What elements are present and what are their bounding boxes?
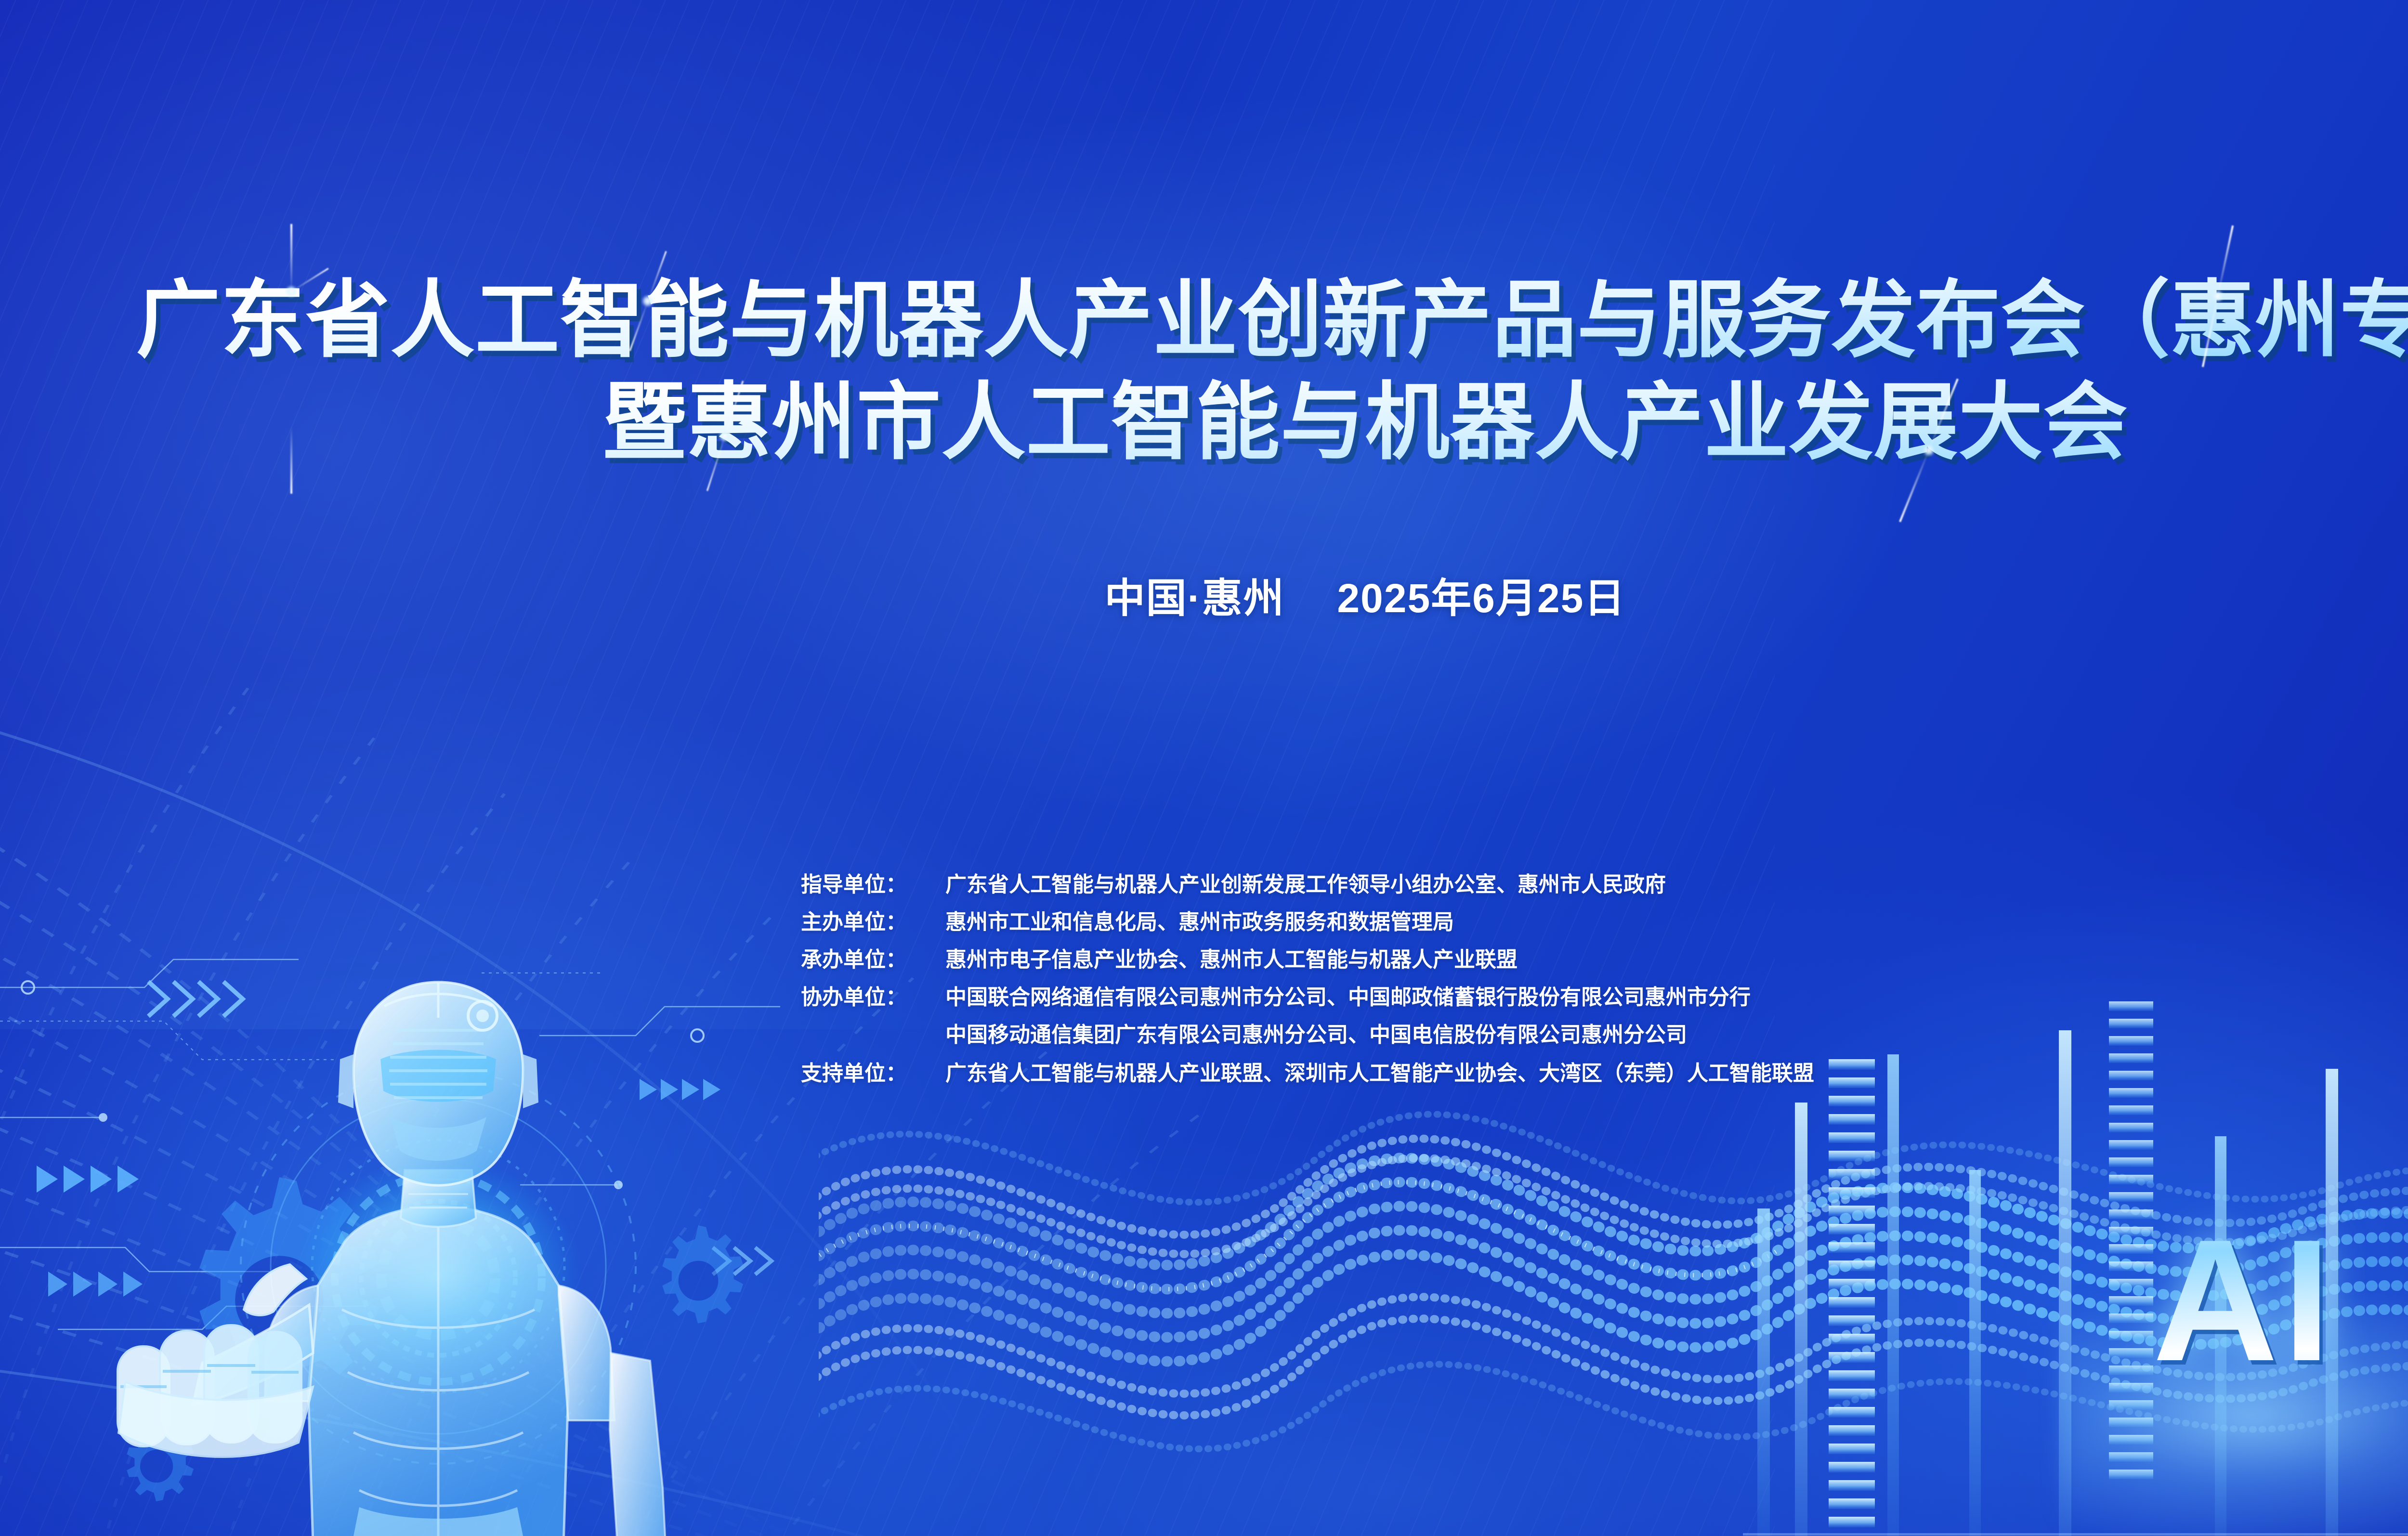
credit-value: 广东省人工智能与机器人产业联盟、深圳市人工智能产业协会、大湾区（东莞）人工智能联… — [945, 1056, 1814, 1087]
humanoid-robot-icon — [72, 862, 795, 1536]
organizer-credits: 指导单位：广东省人工智能与机器人产业创新发展工作领导小组办公室、惠州市人民政府主… — [801, 867, 2408, 1093]
credit-row: 支持单位：广东省人工智能与机器人产业联盟、深圳市人工智能产业协会、大湾区（东莞）… — [801, 1056, 2408, 1087]
title-line-2: 暨惠州市人工智能与机器人产业发展大会 — [0, 372, 2408, 474]
credit-value: 惠州市电子信息产业协会、惠州市人工智能与机器人产业联盟 — [945, 942, 1518, 973]
circuit-lines-icon — [0, 915, 867, 1349]
credit-row: 协办单位：中国联合网络通信有限公司惠州市分公司、中国邮政储蓄银行股份有限公司惠州… — [801, 980, 2408, 1011]
credit-value: 惠州市工业和信息化局、惠州市政务服务和数据管理局 — [945, 905, 1454, 935]
credit-label: 指导单位： — [801, 867, 945, 898]
gear-icons — [72, 934, 795, 1536]
credit-label: 主办单位： — [801, 905, 945, 935]
ai-wordmark: AI — [2153, 1214, 2336, 1387]
credit-label: 承办单位： — [801, 942, 945, 973]
credit-value: 中国移动通信集团广东有限公司惠州分公司、中国电信股份有限公司惠州分公司 — [945, 1017, 1687, 1048]
credit-row: 协办单位：中国移动通信集团广东有限公司惠州分公司、中国电信股份有限公司惠州分公司 — [801, 1017, 2408, 1048]
poster-canvas: AI 广东省人工智能与机器人产业创新产品与服务发布会（惠州专场） 暨惠州市人工智… — [0, 0, 2408, 1536]
title-line-1: 广东省人工智能与机器人产业创新产品与服务发布会（惠州专场） — [0, 270, 2408, 372]
credit-label: 支持单位： — [801, 1056, 945, 1087]
credit-row: 承办单位：惠州市电子信息产业协会、惠州市人工智能与机器人产业联盟 — [801, 942, 2408, 973]
event-location-date: 中国·惠州 2025年6月25日 — [0, 566, 2408, 624]
credit-row: 指导单位：广东省人工智能与机器人产业创新发展工作领导小组办公室、惠州市人民政府 — [801, 867, 2408, 898]
diagonal-light-streaks — [0, 0, 1775, 1536]
poster-title: 广东省人工智能与机器人产业创新产品与服务发布会（惠州专场） 暨惠州市人工智能与机… — [0, 270, 2408, 474]
glow-bottom — [491, 1137, 2293, 1536]
chevron-arrows-icon — [29, 939, 799, 1373]
credit-label: 协办单位： — [801, 980, 945, 1011]
event-date: 2025年6月25日 — [1337, 576, 1625, 621]
credit-value: 广东省人工智能与机器人产业创新发展工作领导小组办公室、惠州市人民政府 — [945, 867, 1666, 898]
event-location: 中国·惠州 — [1105, 576, 1285, 621]
credit-row: 主办单位：惠州市工业和信息化局、惠州市政务服务和数据管理局 — [801, 905, 2408, 935]
credit-value: 中国联合网络通信有限公司惠州市分公司、中国邮政储蓄银行股份有限公司惠州市分行 — [945, 980, 1751, 1011]
